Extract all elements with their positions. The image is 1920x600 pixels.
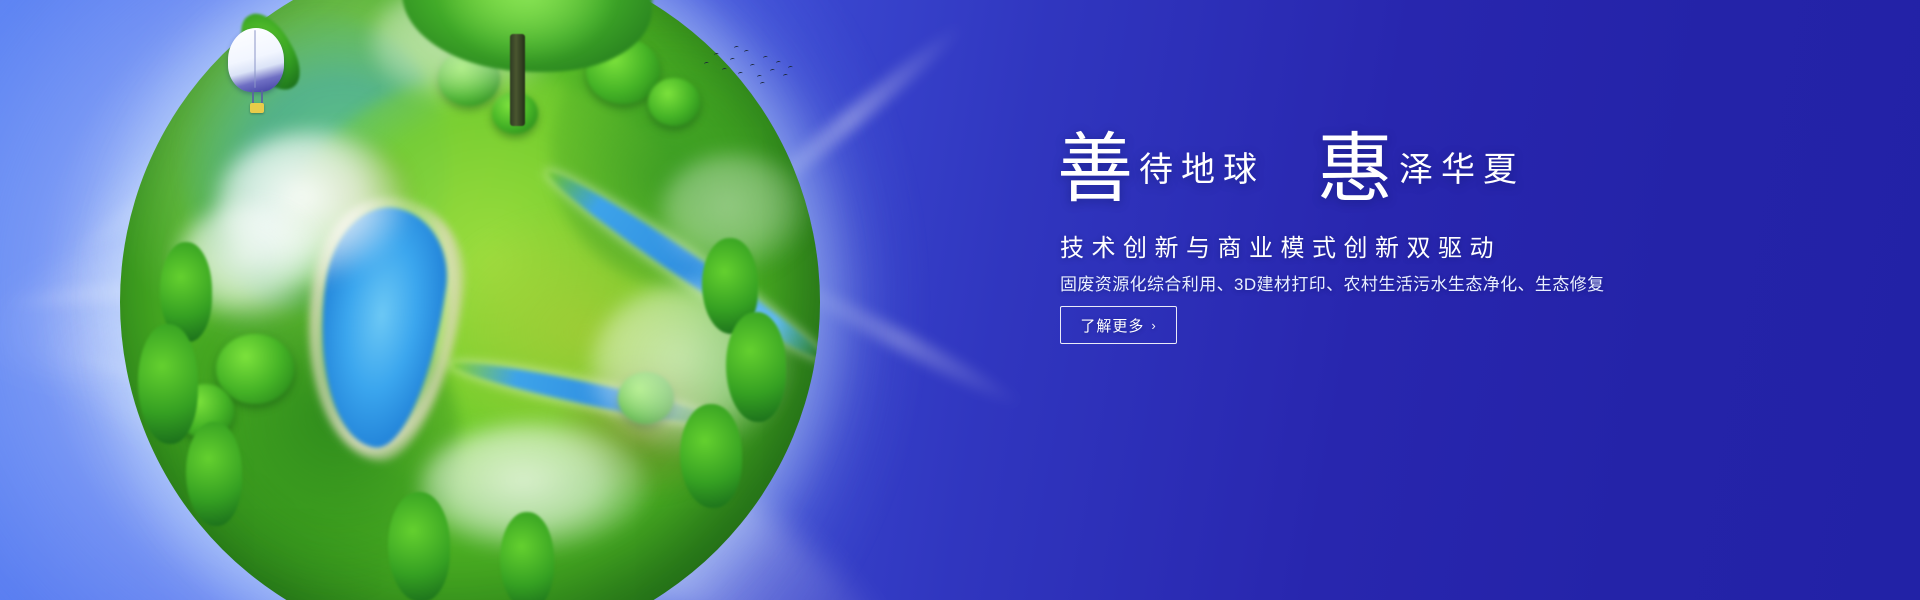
balloon-seam — [254, 30, 256, 88]
headline-text-1: 待地球 — [1139, 152, 1265, 189]
hero-description: 固废资源化综合利用、3D建材打印、农村生活污水生态净化、生态修复 — [1060, 270, 1605, 295]
headline-accent-char-1: 善 — [1057, 128, 1133, 212]
tree-icon — [138, 324, 198, 444]
tree-trunk — [510, 34, 525, 126]
hot-air-balloon-icon — [228, 28, 284, 114]
hero-banner: 善待地球惠泽华夏 技术创新与商业模式创新双驱动 固废资源化综合利用、3D建材打印… — [0, 0, 1920, 600]
learn-more-label: 了解更多 — [1080, 315, 1144, 336]
tree-icon — [186, 422, 242, 526]
hero-subtitle: 技术创新与商业模式创新双驱动 — [1060, 228, 1501, 263]
tree-icon — [648, 78, 700, 126]
tree-icon — [388, 492, 450, 600]
tree-icon — [726, 312, 786, 422]
tree-icon — [680, 404, 742, 508]
balloon-basket — [250, 103, 264, 113]
page-title: 善待地球惠泽华夏 — [1057, 132, 1525, 208]
hero-content: 善待地球惠泽华夏 技术创新与商业模式创新双驱动 固废资源化综合利用、3D建材打印… — [1057, 0, 1797, 600]
tree-icon — [402, 0, 652, 112]
bird-flock-icon — [700, 44, 800, 90]
balloon-rope — [252, 90, 254, 104]
learn-more-button[interactable]: 了解更多 › — [1060, 306, 1177, 344]
tree-icon — [500, 512, 554, 600]
balloon-rope — [261, 90, 263, 104]
balloon-envelope — [228, 28, 284, 92]
chevron-right-icon: › — [1151, 319, 1156, 332]
headline-accent-char-2: 惠 — [1317, 128, 1393, 212]
headline-text-2: 泽华夏 — [1399, 152, 1525, 189]
